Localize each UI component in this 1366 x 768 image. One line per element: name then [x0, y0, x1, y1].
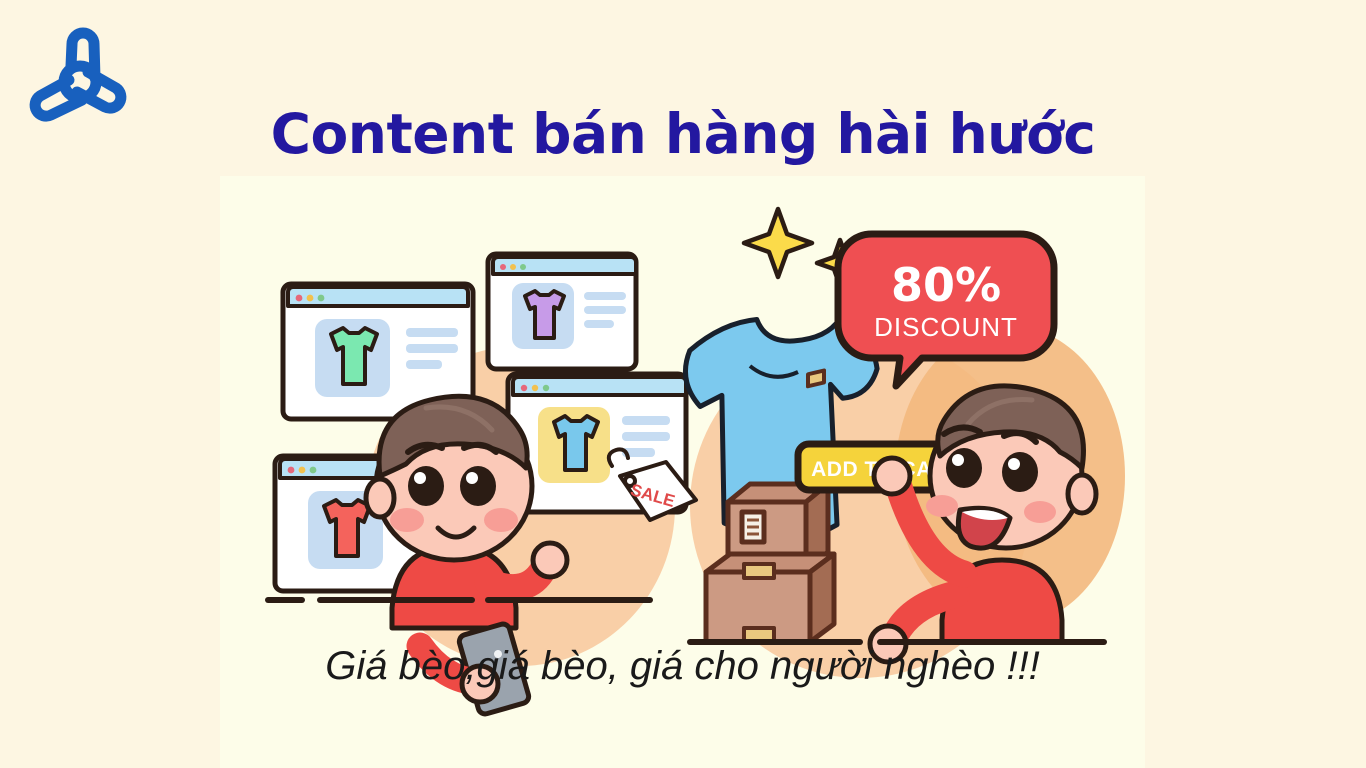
- page-title: Content bán hàng hài hước: [0, 102, 1366, 166]
- discount-percent: 80%: [891, 258, 1001, 312]
- discount-label: DISCOUNT: [874, 312, 1018, 342]
- slide-canvas: Content bán hàng hài hước: [0, 0, 1366, 768]
- caption-text: Giá bèo,giá bèo, giá cho người nghèo !!!: [220, 644, 1145, 689]
- browser-window-purple: [488, 254, 636, 369]
